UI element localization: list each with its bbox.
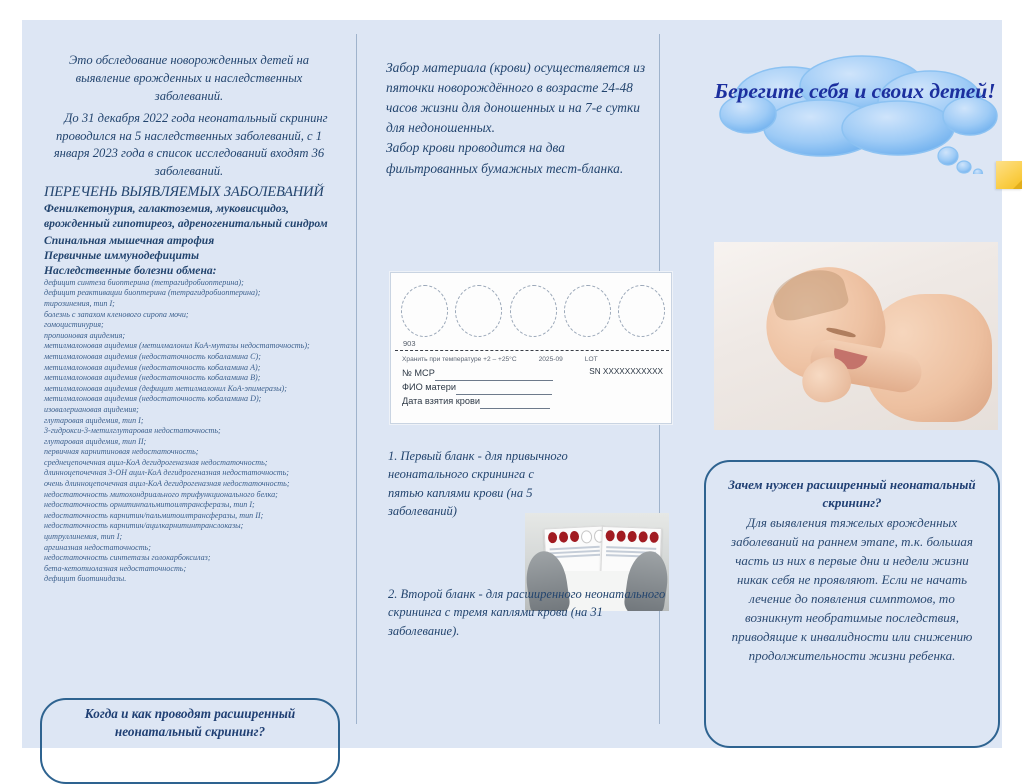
disease-spinal-muscular-atrophy: Спинальная мышечная атрофия <box>44 234 334 247</box>
field-mother-rule <box>456 385 552 395</box>
perforation-line <box>395 350 669 351</box>
callout-why-body: Для выявления тяжелых врожденных заболев… <box>720 514 984 666</box>
brochure-sheet: Это обследование новорожденных детей на … <box>22 20 1002 748</box>
form-number-label: 903 <box>403 339 416 348</box>
list-item: тирозинемия, тип I; <box>44 299 334 310</box>
blood-spot-circle <box>510 285 557 337</box>
callout-why-title: Зачем нужен расширенный неонатальный скр… <box>724 476 980 512</box>
field-date-rule <box>480 399 550 409</box>
list-item: цитруллинемия, тип I; <box>44 532 334 543</box>
serial-number: SN XXXXXXXXXXX <box>589 367 663 376</box>
callout-when-title: Когда и как проводят расширенный неоната… <box>42 700 338 741</box>
list-item: метилмалоновая ацидемия (недостаточность… <box>44 373 334 384</box>
list-item: пропионовая ацидемия; <box>44 331 334 342</box>
callout-why-extended-screening: Зачем нужен расширенный неонатальный скр… <box>704 460 1000 748</box>
two-test-forms-paragraph: Забор крови проводится на два фильтрован… <box>386 138 648 178</box>
callout-when-and-how: Когда и как проводят расширенный неоната… <box>40 698 340 784</box>
bubble-dot-small <box>974 169 983 174</box>
test-blank-card: 903 Хранить при температуре +2 – +25°C 2… <box>390 272 672 424</box>
blood-collection-paragraph: Забор материала (крови) осуществляется и… <box>386 58 648 138</box>
blood-dot <box>605 530 614 541</box>
list-item: недостаточность митохондриального трифун… <box>44 490 334 501</box>
field-mother-label: ФИО матери <box>402 382 456 392</box>
field-mcp-rule <box>435 371 553 381</box>
blood-spot-dots <box>605 530 658 543</box>
date-code: 2025-09 <box>539 356 563 363</box>
list-item: дефицит синтеза биоптерина (тетрагидроби… <box>44 278 334 289</box>
major-diseases-text: Фенилкетонурия, галактоземия, муковисцид… <box>44 202 334 232</box>
brochure-page: Это обследование новорожденных детей на … <box>0 0 1024 767</box>
left-column-content: Это обследование новорожденных детей на … <box>44 52 334 585</box>
list-item: глутаровая ацидемия, тип I; <box>44 416 334 427</box>
intro-paragraph-1: Это обследование новорожденных детей на … <box>44 52 334 106</box>
field-mcp-row: № МСР <box>402 367 602 381</box>
list-item: метилмалоновая ацидемия (дефицит метилма… <box>44 384 334 395</box>
blood-spot-circle <box>564 285 611 337</box>
first-form-note: 1. Первый бланк - для привычного неоната… <box>388 447 568 520</box>
card-fields: № МСР ФИО матери Дата взятия крови <box>402 367 602 409</box>
list-item: болезнь с запахом кленового сиропа мочи; <box>44 310 334 321</box>
cloud-shape-icon <box>712 52 1012 174</box>
sticky-note-icon <box>996 161 1022 189</box>
blood-spot-dots <box>548 529 606 545</box>
sleeping-newborn-photo <box>714 242 998 430</box>
list-item: недостаточность орнитинпальмитоилтрансфе… <box>44 500 334 511</box>
blood-spot-circle <box>401 285 448 337</box>
card-meta-row: Хранить при температуре +2 – +25°C 2025-… <box>402 356 666 363</box>
blood-dot <box>627 531 636 542</box>
middle-column-content: Забор материала (крови) осуществляется и… <box>386 58 648 179</box>
field-date-label: Дата взятия крови <box>402 396 480 406</box>
list-item: длинноцепочечная 3-ОН ацил-КоА дегидроге… <box>44 468 334 479</box>
list-item: глутаровая ацидемия, тип II; <box>44 437 334 448</box>
intro-paragraph-2: До 31 декабря 2022 года неонатальный скр… <box>44 110 334 182</box>
blood-spot-circles <box>401 282 665 340</box>
blood-dot <box>559 531 569 542</box>
list-item: дефицит биотинидазы. <box>44 574 334 585</box>
field-date-row: Дата взятия крови <box>402 395 602 409</box>
metabolic-diseases-heading: Наследственные болезни обмена: <box>44 264 334 277</box>
list-item: аргиназная недостаточность; <box>44 543 334 554</box>
list-item: гомоцистинурия; <box>44 320 334 331</box>
thought-bubble: Берегите себя и своих детей! <box>712 52 1012 174</box>
blood-dot-empty <box>581 530 593 544</box>
blood-spot-circle <box>455 285 502 337</box>
lot-label: LOT <box>585 356 598 363</box>
cloud-slogan-text: Берегите себя и своих детей! <box>712 78 998 104</box>
second-form-note: 2. Второй бланк - для расширенного неона… <box>388 585 666 640</box>
metabolic-disease-list: дефицит синтеза биоптерина (тетрагидроби… <box>44 278 334 585</box>
column-divider-left <box>356 34 357 724</box>
blood-dot <box>548 532 558 543</box>
list-item: метилмалоновая ацидемия (недостаточность… <box>44 352 334 363</box>
list-item: метилмалоновая ацидемия (метилмалонил Ко… <box>44 341 334 352</box>
list-item: дефицит реактивации биоптерина (тетрагид… <box>44 288 334 299</box>
list-item: недостаточность синтетазы голокарбоксила… <box>44 553 334 564</box>
blood-spot-circle <box>618 285 665 337</box>
blood-dot <box>638 531 647 542</box>
bubble-dot-large <box>938 147 958 165</box>
list-item: недостаточность карнитин/ацилкарнитинтра… <box>44 521 334 532</box>
list-item: первичная карнитиновая недостаточность; <box>44 447 334 458</box>
list-item: среднецепочечная ацил-КоА дегидрогеназна… <box>44 458 334 469</box>
bubble-dot-medium <box>957 161 971 173</box>
blood-dot <box>649 532 658 543</box>
list-item: бета-кетотиолазная недостаточность; <box>44 564 334 575</box>
field-mother-row: ФИО матери <box>402 381 602 395</box>
storage-temperature-note: Хранить при температуре +2 – +25°C <box>402 356 517 363</box>
list-item: изовалериановая ацидемия; <box>44 405 334 416</box>
list-item: очень длинноцепочечная ацил-КоА дегидрог… <box>44 479 334 490</box>
list-item: метилмалоновая ацидемия (недостаточность… <box>44 363 334 374</box>
field-mcp-label: № МСР <box>402 368 435 378</box>
text-line <box>606 546 656 550</box>
disease-primary-immunodeficiency: Первичные иммунодефициты <box>44 249 334 262</box>
list-item: недостаточность карнитин/пальмитоилтранс… <box>44 511 334 522</box>
blood-dot <box>570 531 580 542</box>
list-item: метилмалоновая ацидемия (недостаточность… <box>44 394 334 405</box>
blood-dot <box>616 530 625 541</box>
disease-list-heading: ПЕРЕЧЕНЬ ВЫЯВЛЯЕМЫХ ЗАБОЛЕВАНИЙ <box>44 184 334 201</box>
list-item: 3-гидрокси-3-метилглутаровая недостаточн… <box>44 426 334 437</box>
